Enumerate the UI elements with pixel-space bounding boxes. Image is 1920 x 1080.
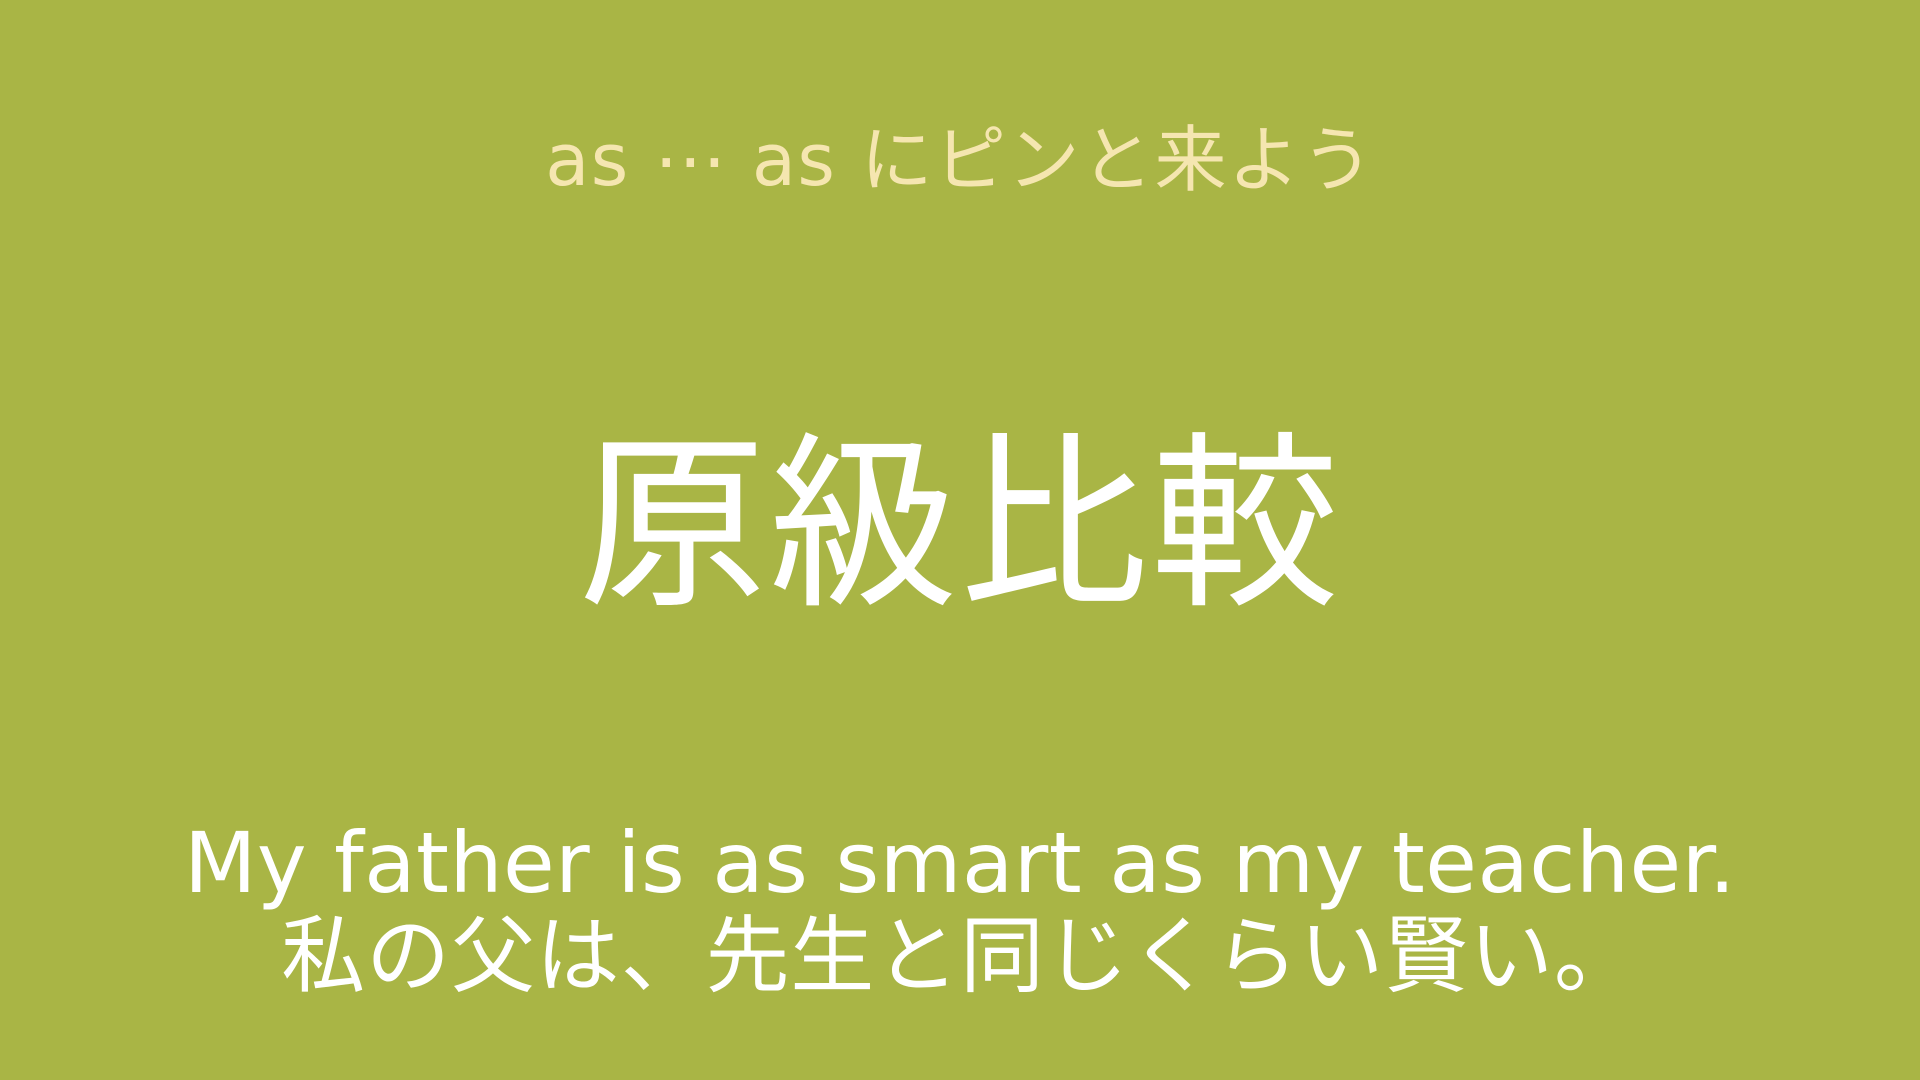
example-sentence-japanese: 私の父は、先生と同じくらい賢い。 [0,913,1920,1000]
headline-subtitle: as ⋯ as にピンと来よう [0,124,1920,196]
page-title: 原級比較 [0,432,1920,620]
example-sentence-block: My father is as smart as my teacher. 私の父… [0,820,1920,1001]
example-sentence-english: My father is as smart as my teacher. [0,820,1920,907]
slide-canvas: as ⋯ as にピンと来よう 原級比較 My father is as sma… [0,0,1920,1080]
